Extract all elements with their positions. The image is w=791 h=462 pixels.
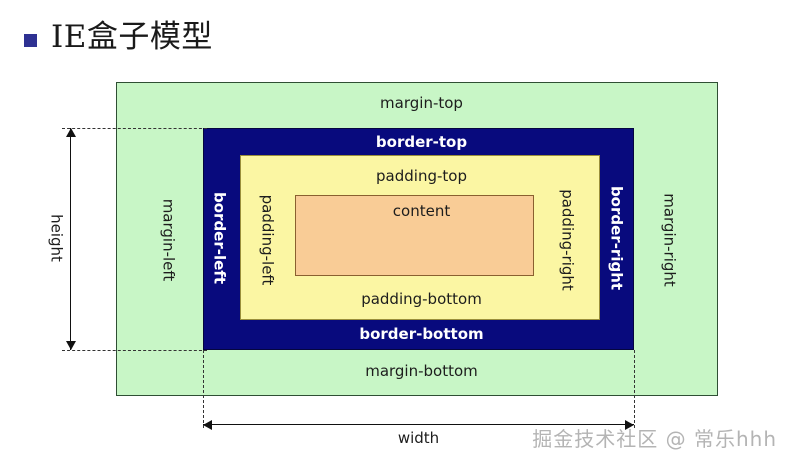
- arrow-shaft: [70, 128, 71, 350]
- label-padding-left: padding-left: [260, 195, 275, 286]
- guide-line-right: [634, 350, 635, 428]
- label-margin-left: margin-left: [161, 199, 176, 282]
- label-border-left: border-left: [212, 192, 227, 284]
- guide-line-top: [62, 128, 207, 129]
- label-height: height: [49, 214, 64, 262]
- label-border-top: border-top: [26, 135, 791, 150]
- label-padding-bottom: padding-bottom: [26, 292, 791, 307]
- label-margin-bottom: margin-bottom: [26, 364, 791, 379]
- label-border-bottom: border-bottom: [26, 327, 791, 342]
- guide-line-bottom: [62, 350, 207, 351]
- label-margin-top: margin-top: [26, 96, 791, 111]
- arrowhead-down: [66, 341, 76, 350]
- label-padding-right: padding-right: [560, 189, 575, 291]
- ie-box-model-diagram: margin-top border-top padding-top conten…: [0, 0, 791, 462]
- guide-line-left: [203, 350, 204, 428]
- arrowhead-up: [66, 128, 76, 137]
- label-margin-right: margin-right: [662, 193, 677, 287]
- label-border-right: border-right: [609, 186, 624, 290]
- label-padding-top: padding-top: [26, 169, 791, 184]
- watermark: 掘金技术社区 @ 常乐hhh: [532, 423, 777, 452]
- height-dimension-arrow: [70, 128, 72, 350]
